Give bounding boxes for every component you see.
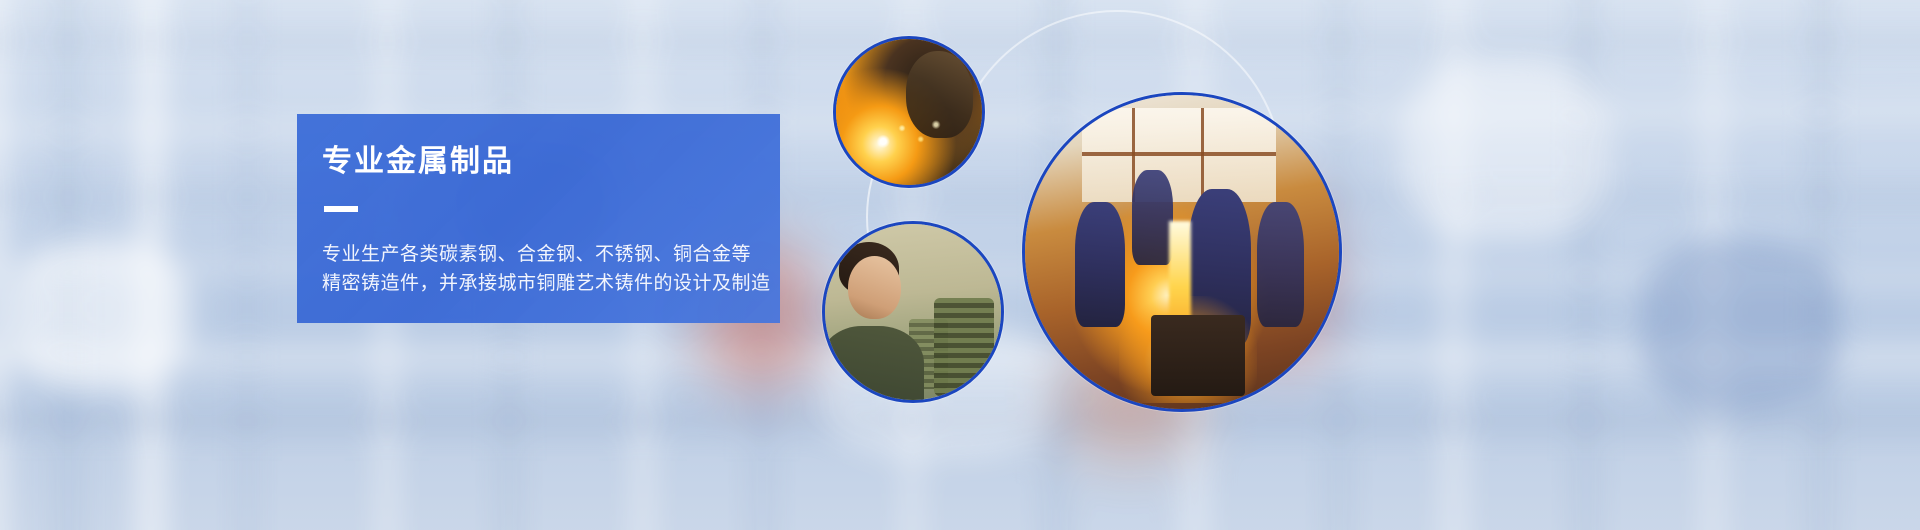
worker-assembly-photo <box>822 221 1004 403</box>
promo-description: 专业生产各类碳素钢、合金钢、不锈钢、铜合金等精密铸造件，并承接城市铜雕艺术铸件的… <box>322 240 780 299</box>
promo-description-line-1: 专业生产各类碳素钢、合金钢、不锈钢、铜合金等 <box>322 244 751 265</box>
page-title: 专业金属制品 <box>322 144 780 180</box>
title-divider <box>324 206 358 212</box>
promo-text-panel: 专业金属制品 专业生产各类碳素钢、合金钢、不锈钢、铜合金等精密铸造件，并承接城市… <box>297 114 780 323</box>
hero-banner: 专业金属制品 专业生产各类碳素钢、合金钢、不锈钢、铜合金等精密铸造件，并承接城市… <box>0 0 1920 530</box>
welding-sparks-photo <box>833 36 985 188</box>
promo-description-line-2: 精密铸造件，并承接城市铜雕艺术铸件的设计及制造 <box>322 273 771 294</box>
foundry-pouring-photo <box>1022 92 1342 412</box>
